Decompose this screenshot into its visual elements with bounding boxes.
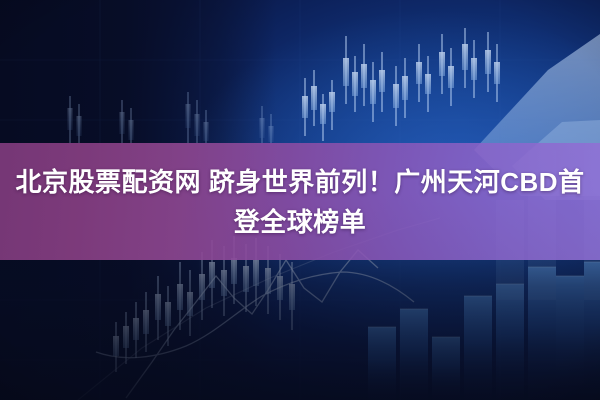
banner-image: 北京股票配资网 跻身世界前列！广州天河CBD首 登全球榜单 bbox=[0, 0, 600, 400]
headline-line-1: 北京股票配资网 跻身世界前列！广州天河CBD首 bbox=[15, 162, 584, 202]
headline-line-2: 登全球榜单 bbox=[234, 202, 367, 242]
purple-headline-band: 北京股票配资网 跻身世界前列！广州天河CBD首 登全球榜单 bbox=[0, 143, 600, 260]
